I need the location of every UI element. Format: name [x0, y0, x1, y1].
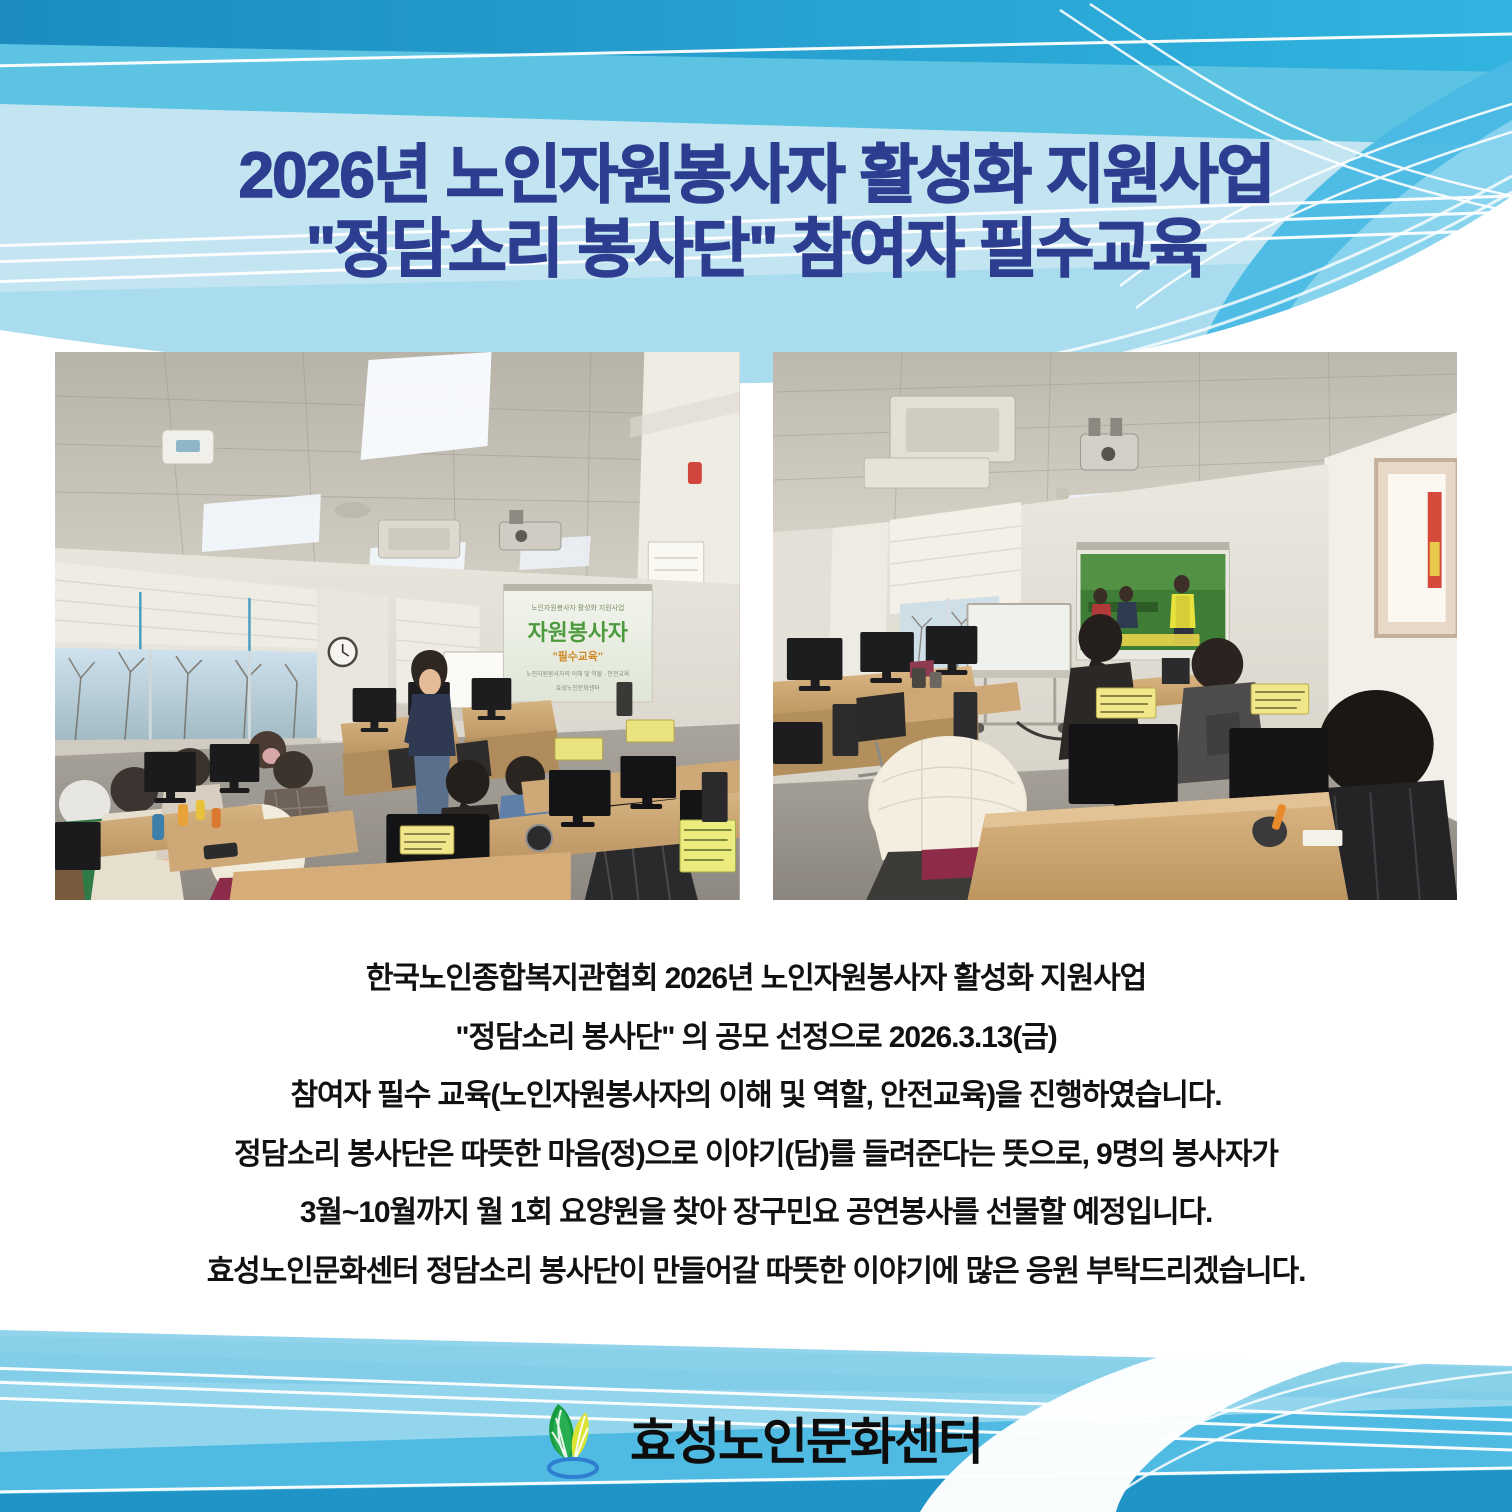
page-title: 2026년 노인자원봉사자 활성화 지원사업 "정담소리 봉사단" 참여자 필수… — [0, 138, 1512, 286]
body-text: 한국노인종합복지관협회 2026년 노인자원봉사자 활성화 지원사업 "정담소리… — [0, 950, 1512, 1301]
poster-card: 2026년 노인자원봉사자 활성화 지원사업 "정담소리 봉사단" 참여자 필수… — [0, 0, 1512, 1512]
svg-text:자원봉사자: 자원봉사자 — [528, 620, 628, 645]
footer-logo: 효성노인문화센터 — [0, 1394, 1512, 1490]
body-line-5: 3월~10월까지 월 1회 요양원을 찾아 장구민요 공연봉사를 선물할 예정입… — [0, 1184, 1512, 1243]
title-line-1: 2026년 노인자원봉사자 활성화 지원사업 — [0, 138, 1512, 212]
classroom-lecture-photo: 노인자원봉사자 활성화 지원사업 자원봉사자 "필수교육" 노인자원봉사자의 이… — [55, 352, 740, 900]
body-line-1: 한국노인종합복지관협회 2026년 노인자원봉사자 활성화 지원사업 — [0, 950, 1512, 1009]
body-line-6: 효성노인문화센터 정담소리 봉사단이 만들어갈 따뜻한 이야기에 많은 응원 부… — [0, 1243, 1512, 1302]
photo-gallery: 노인자원봉사자 활성화 지원사업 자원봉사자 "필수교육" 노인자원봉사자의 이… — [55, 352, 1457, 900]
svg-text:효성노인문화센터: 효성노인문화센터 — [556, 684, 600, 692]
body-line-4: 정담소리 봉사단은 따뜻한 마음(정)으로 이야기(담)를 들려준다는 뜻으로,… — [0, 1126, 1512, 1185]
title-line-2: "정담소리 봉사단" 참여자 필수교육 — [0, 212, 1512, 286]
organization-name: 효성노인문화센터 — [630, 1417, 982, 1467]
leaf-sprout-icon — [530, 1400, 616, 1484]
svg-text:노인자원봉사자 활성화 지원사업: 노인자원봉사자 활성화 지원사업 — [531, 603, 624, 612]
safety-video-photo — [773, 352, 1458, 900]
svg-text:노인자원봉사자의 이해 및 역할 · 안전교육: 노인자원봉사자의 이해 및 역할 · 안전교육 — [526, 670, 630, 678]
body-line-3: 참여자 필수 교육(노인자원봉사자의 이해 및 역할, 안전교육)을 진행하였습… — [0, 1067, 1512, 1126]
svg-text:"필수교육": "필수교육" — [553, 649, 603, 663]
body-line-2: "정담소리 봉사단" 의 공모 선정으로 2026.3.13(금) — [0, 1009, 1512, 1068]
